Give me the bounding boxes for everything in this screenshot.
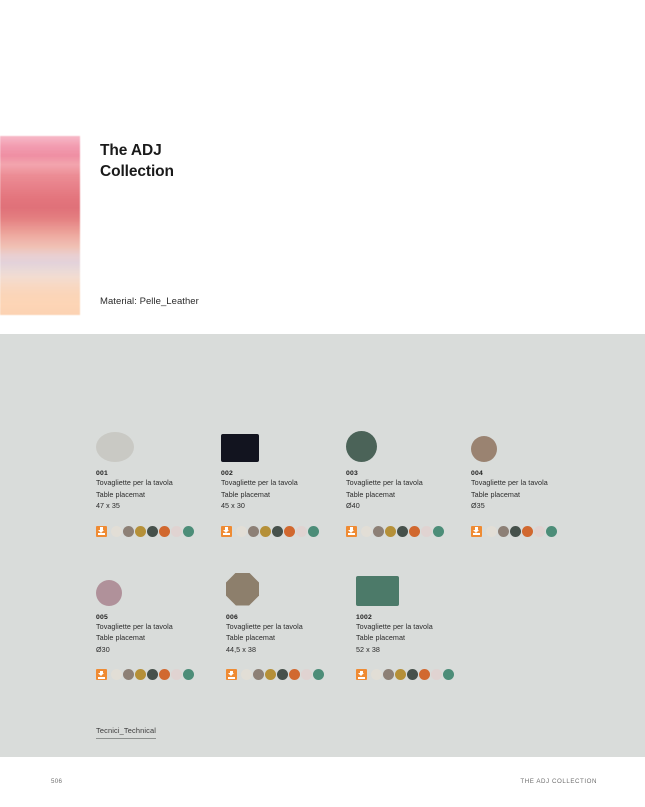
- product-thumbnail-wrap: [356, 558, 486, 606]
- color-swatch[interactable]: [443, 669, 454, 680]
- product-name-it: Tovagliette per la tavola: [356, 621, 486, 633]
- product-card-005[interactable]: 005 Tovagliette per la tavola Table plac…: [96, 558, 226, 681]
- color-swatch[interactable]: [241, 669, 252, 680]
- color-swatch[interactable]: [171, 669, 182, 680]
- color-swatch[interactable]: [289, 669, 300, 680]
- color-swatch[interactable]: [534, 526, 545, 537]
- product-card-004[interactable]: 004 Tovagliette per la tavola Table plac…: [471, 414, 596, 537]
- product-shape-octagon: [226, 573, 259, 606]
- product-name-it: Tovagliette per la tavola: [226, 621, 356, 633]
- color-swatch[interactable]: [522, 526, 533, 537]
- download-icon[interactable]: [471, 526, 482, 537]
- product-shape-rect: [221, 434, 259, 462]
- color-swatch[interactable]: [431, 669, 442, 680]
- product-name-it: Tovagliette per la tavola: [471, 477, 596, 489]
- swatch-row: [96, 526, 221, 537]
- color-swatch[interactable]: [135, 526, 146, 537]
- product-code: 004: [471, 470, 596, 477]
- color-swatch[interactable]: [253, 669, 264, 680]
- footer-collection-label: THE ADJ COLLECTION: [520, 778, 597, 785]
- product-name-it: Tovagliette per la tavola: [221, 477, 346, 489]
- product-shape-rect: [356, 576, 399, 606]
- color-swatch[interactable]: [111, 526, 122, 537]
- color-swatch[interactable]: [248, 526, 259, 537]
- color-swatch[interactable]: [395, 669, 406, 680]
- color-swatch[interactable]: [546, 526, 557, 537]
- product-name-en: Table placemat: [226, 632, 356, 644]
- color-swatch[interactable]: [296, 526, 307, 537]
- color-swatch[interactable]: [510, 526, 521, 537]
- page-title: The ADJ Collection: [100, 141, 174, 182]
- swatch-row: [221, 526, 346, 537]
- product-row: 001 Tovagliette per la tavola Table plac…: [96, 414, 596, 537]
- color-swatch[interactable]: [313, 669, 324, 680]
- product-shape-circle: [471, 436, 497, 462]
- product-grid: 001 Tovagliette per la tavola Table plac…: [96, 414, 596, 680]
- download-icon[interactable]: [96, 669, 107, 680]
- product-card-006[interactable]: 006 Tovagliette per la tavola Table plac…: [226, 558, 356, 681]
- color-swatch[interactable]: [486, 526, 497, 537]
- download-icon[interactable]: [226, 669, 237, 680]
- color-swatch[interactable]: [265, 669, 276, 680]
- hero-section: The ADJ Collection Material: Pelle_Leath…: [0, 0, 645, 334]
- product-card-1002[interactable]: 1002 Tovagliette per la tavola Table pla…: [356, 558, 486, 681]
- color-swatch[interactable]: [397, 526, 408, 537]
- page-number: 506: [51, 778, 62, 785]
- color-swatch[interactable]: [383, 669, 394, 680]
- page-footer: 506 THE ADJ COLLECTION: [0, 757, 645, 807]
- product-name-it: Tovagliette per la tavola: [96, 477, 221, 489]
- color-swatch[interactable]: [260, 526, 271, 537]
- color-swatch[interactable]: [277, 669, 288, 680]
- product-thumbnail-wrap: [471, 414, 596, 462]
- product-thumbnail-wrap: [226, 558, 356, 606]
- color-swatch[interactable]: [301, 669, 312, 680]
- color-swatch[interactable]: [407, 669, 418, 680]
- swatch-row: [346, 526, 471, 537]
- product-card-001[interactable]: 001 Tovagliette per la tavola Table plac…: [96, 414, 221, 537]
- swatch-row: [356, 669, 486, 680]
- swatch-row: [471, 526, 596, 537]
- color-swatch[interactable]: [308, 526, 319, 537]
- swatch-row: [226, 669, 356, 680]
- color-swatch[interactable]: [183, 669, 194, 680]
- product-thumbnail-wrap: [96, 558, 226, 606]
- product-name-en: Table placemat: [96, 632, 226, 644]
- product-code: 006: [226, 614, 356, 621]
- technical-link[interactable]: Tecnici_Technical: [96, 726, 156, 739]
- product-row: 005 Tovagliette per la tavola Table plac…: [96, 558, 596, 681]
- color-swatch[interactable]: [371, 669, 382, 680]
- download-icon[interactable]: [346, 526, 357, 537]
- product-thumbnail-wrap: [346, 414, 471, 462]
- product-size: 52 x 38: [356, 644, 486, 656]
- color-swatch[interactable]: [147, 669, 158, 680]
- product-code: 005: [96, 614, 226, 621]
- product-shape-circle: [96, 580, 122, 606]
- product-name-it: Tovagliette per la tavola: [96, 621, 226, 633]
- download-icon[interactable]: [356, 669, 367, 680]
- page-title-line-2: Collection: [100, 162, 174, 183]
- color-swatch[interactable]: [236, 526, 247, 537]
- product-name-en: Table placemat: [221, 489, 346, 501]
- product-size: 47 x 35: [96, 500, 221, 512]
- product-thumbnail-wrap: [96, 414, 221, 462]
- product-card-003[interactable]: 003 Tovagliette per la tavola Table plac…: [346, 414, 471, 537]
- color-swatch[interactable]: [272, 526, 283, 537]
- product-size: Ø35: [471, 500, 596, 512]
- color-swatch[interactable]: [421, 526, 432, 537]
- product-card-002[interactable]: 002 Tovagliette per la tavola Table plac…: [221, 414, 346, 537]
- product-code: 001: [96, 470, 221, 477]
- product-size: Ø40: [346, 500, 471, 512]
- products-panel: 001 Tovagliette per la tavola Table plac…: [0, 334, 645, 757]
- color-swatch[interactable]: [159, 669, 170, 680]
- product-name-en: Table placemat: [96, 489, 221, 501]
- product-name-it: Tovagliette per la tavola: [346, 477, 471, 489]
- download-icon[interactable]: [221, 526, 232, 537]
- product-code: 002: [221, 470, 346, 477]
- color-swatch[interactable]: [373, 526, 384, 537]
- color-swatch[interactable]: [123, 669, 134, 680]
- color-swatch[interactable]: [433, 526, 444, 537]
- product-code: 003: [346, 470, 471, 477]
- color-swatch[interactable]: [361, 526, 372, 537]
- material-label: Material: Pelle_Leather: [100, 296, 199, 307]
- color-swatch[interactable]: [111, 669, 122, 680]
- color-swatch[interactable]: [171, 526, 182, 537]
- color-swatch[interactable]: [284, 526, 295, 537]
- sunset-gradient-image: [0, 136, 80, 315]
- page-title-line-1: The ADJ: [100, 141, 174, 162]
- product-name-en: Table placemat: [471, 489, 596, 501]
- product-name-en: Table placemat: [356, 632, 486, 644]
- color-swatch[interactable]: [385, 526, 396, 537]
- product-thumbnail-wrap: [221, 414, 346, 462]
- download-icon[interactable]: [96, 526, 107, 537]
- color-swatch[interactable]: [183, 526, 194, 537]
- product-name-en: Table placemat: [346, 489, 471, 501]
- color-swatch[interactable]: [409, 526, 420, 537]
- product-code: 1002: [356, 614, 486, 621]
- product-shape-ellipse: [96, 432, 134, 462]
- color-swatch[interactable]: [498, 526, 509, 537]
- color-swatch[interactable]: [159, 526, 170, 537]
- product-size: Ø30: [96, 644, 226, 656]
- product-size: 45 x 30: [221, 500, 346, 512]
- catalog-page: The ADJ Collection Material: Pelle_Leath…: [0, 0, 645, 807]
- color-swatch[interactable]: [147, 526, 158, 537]
- color-swatch[interactable]: [135, 669, 146, 680]
- product-shape-circle: [346, 431, 377, 462]
- color-swatch[interactable]: [123, 526, 134, 537]
- product-size: 44,5 x 38: [226, 644, 356, 656]
- swatch-row: [96, 669, 226, 680]
- color-swatch[interactable]: [419, 669, 430, 680]
